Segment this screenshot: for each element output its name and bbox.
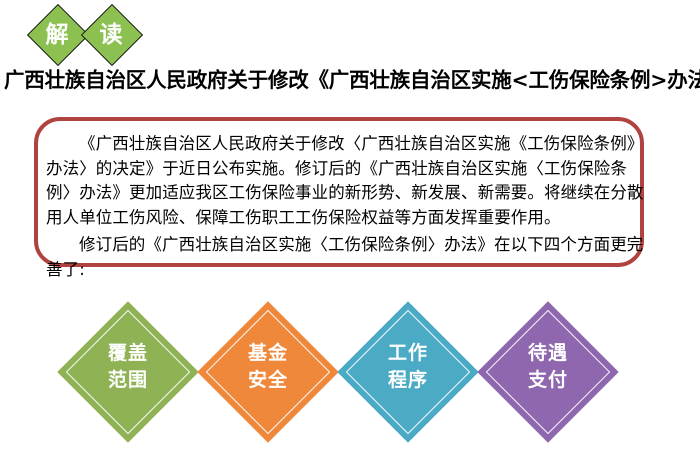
summary-paragraph-1: 《广西壮族自治区人民政府关于修改〈广西壮族自治区实施《工伤保险条例》办法〉的决定… — [46, 132, 644, 230]
chain-node-benefit-payment[interactable]: 待遇 支付 — [486, 310, 610, 434]
chain-node-label-line1: 工作 — [346, 340, 470, 367]
badge-char-1: 解 — [36, 16, 78, 54]
summary-paragraph-2: 修订后的《广西壮族自治区实施〈工伤保险条例〉办法》在以下四个方面更完善了: — [46, 233, 644, 282]
chain-node-work-procedure[interactable]: 工作 程序 — [346, 310, 470, 434]
chain-node-label: 工作 程序 — [346, 340, 470, 394]
chain-node-coverage[interactable]: 覆盖 范围 — [66, 310, 190, 434]
chain-node-label-line2: 范围 — [66, 367, 190, 394]
chain-node-label: 覆盖 范围 — [66, 340, 190, 394]
chain-node-fund-safety[interactable]: 基金 安全 — [206, 310, 330, 434]
header-badge: 解 读 — [28, 6, 208, 64]
summary-text-block: 《广西壮族自治区人民政府关于修改〈广西壮族自治区实施《工伤保险条例》办法〉的决定… — [46, 132, 644, 282]
chain-node-label-line2: 安全 — [206, 367, 330, 394]
chain-node-label-line1: 基金 — [206, 340, 330, 367]
chain-node-label-line1: 待遇 — [486, 340, 610, 367]
chain-node-label-line2: 支付 — [486, 367, 610, 394]
chain-node-label: 基金 安全 — [206, 340, 330, 394]
chain-node-label: 待遇 支付 — [486, 340, 610, 394]
badge-char-2: 读 — [90, 16, 132, 54]
page-title: 广西壮族自治区人民政府关于修改《广西壮族自治区实施<工伤保险条例>办法》的决定 — [4, 67, 700, 93]
diamond-chain: 覆盖 范围 基金 安全 工作 程序 待遇 支付 — [0, 300, 700, 450]
chain-node-label-line2: 程序 — [346, 367, 470, 394]
chain-node-label-line1: 覆盖 — [66, 340, 190, 367]
